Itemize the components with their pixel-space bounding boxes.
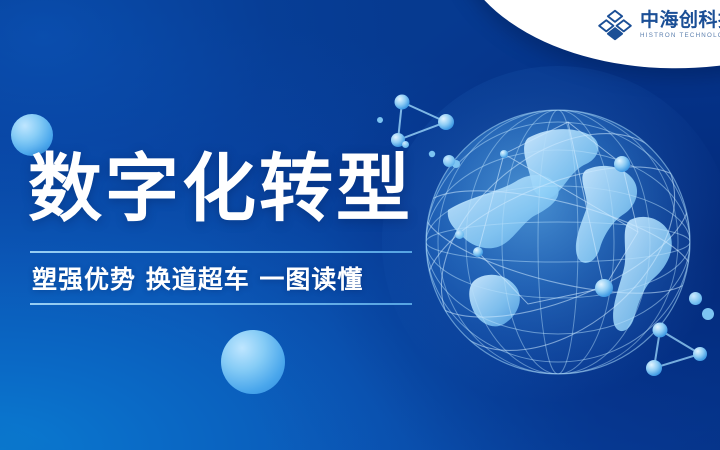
page-title: 数字化转型 xyxy=(28,152,413,227)
subtitle-group: 塑强优势 换道超车 一图读懂 xyxy=(30,251,412,305)
page-subtitle: 塑强优势 换道超车 一图读懂 xyxy=(30,253,412,303)
subtitle-rule-top xyxy=(30,251,412,253)
headline-group: 数字化转型 xyxy=(28,152,413,227)
logo-text-block: 中海创科技 HISTRON TECHNOLOGY xyxy=(640,11,720,39)
logo-name-cn: 中海创科技 xyxy=(640,11,720,30)
subtitle-rule-bottom xyxy=(30,303,412,305)
histron-diamond-mark-icon xyxy=(596,6,634,44)
digital-transformation-banner: 数字化转型 塑强优势 换道超车 一图读懂 中海创科技 HISTRON TECHN… xyxy=(0,0,720,450)
logo-name-en: HISTRON TECHNOLOGY xyxy=(640,33,720,40)
company-logo[interactable]: 中海创科技 HISTRON TECHNOLOGY xyxy=(596,6,720,44)
